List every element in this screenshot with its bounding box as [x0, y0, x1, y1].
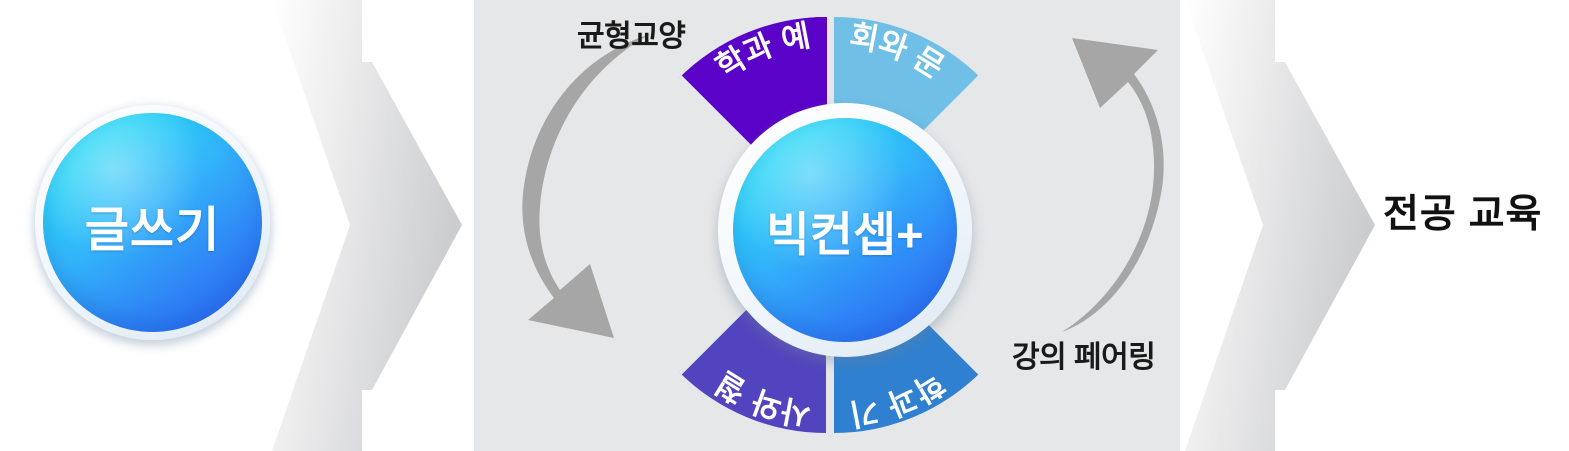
- curved-arrow-down-icon: [518, 28, 658, 338]
- flow-arrow-right: [1185, 0, 1385, 451]
- center-node-label: 빅컨셉+: [766, 196, 923, 265]
- core-body: 빅컨셉+: [733, 118, 957, 342]
- start-node-writing[interactable]: 글쓰기: [30, 100, 275, 345]
- center-node-bigconcept[interactable]: 빅컨셉+: [718, 103, 972, 357]
- callout-lecture-pairing: 강의 페어링: [1012, 332, 1155, 376]
- end-node-label: 전공 교육: [1383, 183, 1542, 239]
- start-node-label: 글쓰기: [85, 190, 220, 260]
- sphere-body: 글쓰기: [43, 113, 262, 332]
- callout-balanced-liberal-arts: 균형교양: [577, 11, 685, 55]
- curved-arrow-up-icon: [1040, 28, 1170, 338]
- flow-arrow-left: [272, 0, 472, 451]
- diagram-canvas: 글쓰기: [0, 0, 1569, 451]
